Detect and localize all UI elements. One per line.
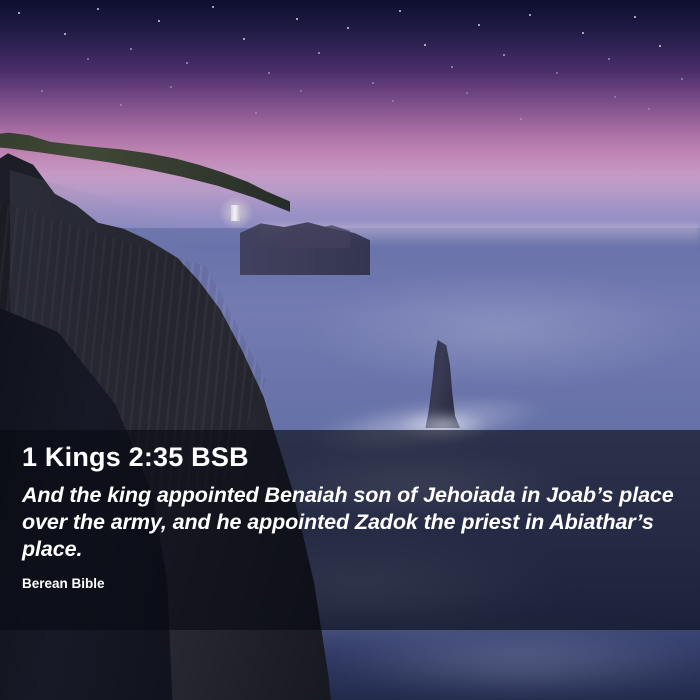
stars xyxy=(0,0,700,170)
sea-shimmer xyxy=(300,270,700,390)
verse-image: 1 Kings 2:35 BSB And the king appointed … xyxy=(0,0,700,700)
verse-reference: 1 Kings 2:35 BSB xyxy=(22,442,682,473)
verse-source: Berean Bible xyxy=(22,576,682,591)
lighthouse-icon xyxy=(231,205,240,221)
verse-panel-content: 1 Kings 2:35 BSB And the king appointed … xyxy=(22,442,682,591)
verse-text: And the king appointed Benaiah son of Je… xyxy=(22,482,682,563)
surf-foam-bottom xyxy=(330,620,700,700)
